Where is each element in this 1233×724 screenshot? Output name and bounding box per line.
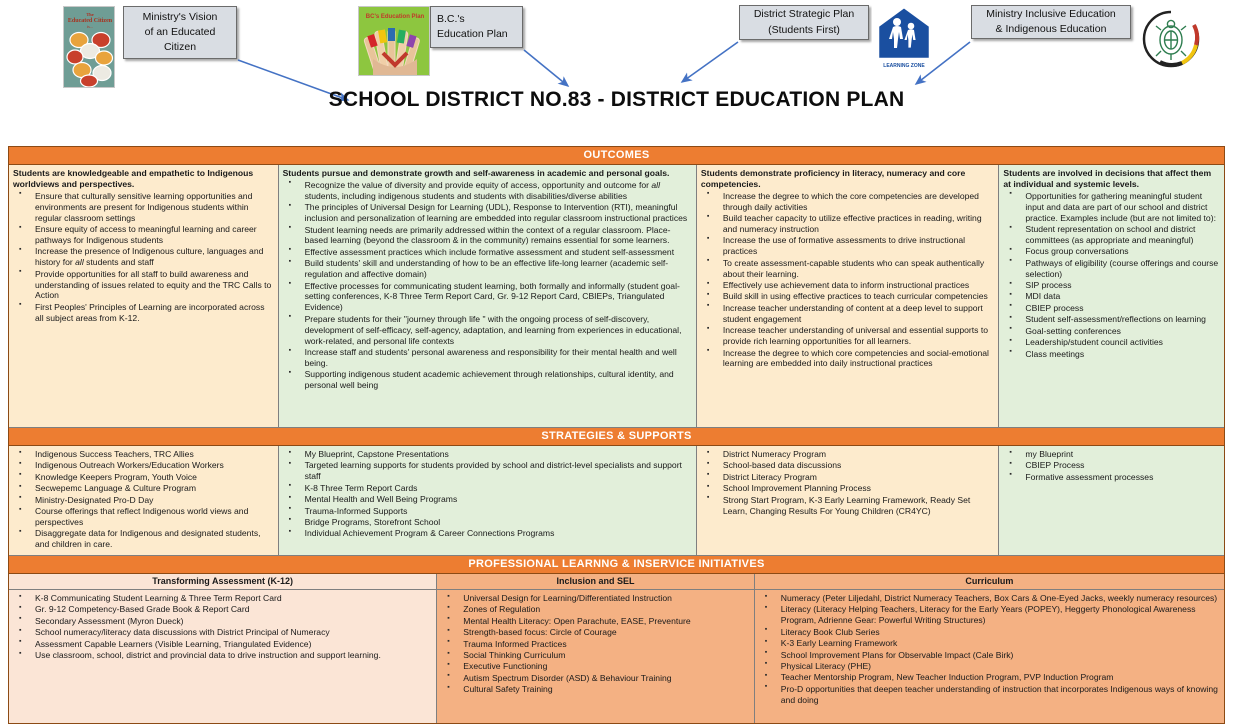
outcomes-col4-list: Opportunities for gathering meaningful s… — [1003, 191, 1220, 360]
list-item: Increase the degree to which the core co… — [701, 191, 995, 213]
svg-text:The: The — [86, 12, 93, 17]
strategies-col2-list: My Blueprint, Capstone PresentationsTarg… — [283, 449, 692, 539]
list-item: Course offerings that reflect Indigenous… — [13, 506, 274, 528]
list-item: Formative assessment processes — [1003, 472, 1220, 483]
list-item: Assessment Capable Learners (Visible Lea… — [13, 639, 432, 650]
svg-text:BC's Education Plan: BC's Education Plan — [366, 14, 425, 20]
turtle-medicine-wheel-image — [1140, 8, 1202, 70]
band-strategies-supports: STRATEGIES & SUPPORTS — [9, 428, 1224, 446]
list-item: Increase teacher understanding of univer… — [701, 325, 995, 347]
callout-ministry-inclusive-education-label: Ministry Inclusive Education& Indigenous… — [976, 7, 1126, 37]
outcomes-col1-lead: Students are knowledgeable and empatheti… — [13, 168, 274, 190]
list-item: Cultural Safety Training — [441, 684, 749, 695]
list-item: Recognize the value of diversity and pro… — [283, 180, 692, 202]
list-item: Student learning needs are primarily add… — [283, 225, 692, 247]
list-item: Universal Design for Learning/Differenti… — [441, 593, 749, 604]
list-item: Social Thinking Curriculum — [441, 650, 749, 661]
list-item: District Literacy Program — [701, 472, 995, 483]
list-item: Indigenous Outreach Workers/Education Wo… — [13, 460, 274, 471]
callout-district-strategic-plan-label: District Strategic Plan(Students First) — [744, 7, 864, 37]
svg-text:is...: is... — [87, 24, 93, 29]
band-outcomes: OUTCOMES — [9, 147, 1224, 165]
professional-subhead-row: Transforming Assessment (K-12) Inclusion… — [9, 574, 1224, 590]
outcomes-col2-lead: Students pursue and demonstrate growth a… — [283, 168, 692, 179]
list-item: Build students' skill and understanding … — [283, 258, 692, 280]
list-item: Disaggregate data for Indigenous and des… — [13, 528, 274, 550]
list-item: Secwepemc Language & Culture Program — [13, 483, 274, 494]
list-item: To create assessment-capable students wh… — [701, 258, 995, 280]
list-item: School Improvement Plans for Observable … — [759, 650, 1220, 661]
list-item: Bridge Programs, Storefront School — [283, 517, 692, 528]
list-item: Strong Start Program, K-3 Early Learning… — [701, 495, 995, 517]
subhead-inclusion-sel: Inclusion and SEL — [437, 574, 754, 590]
professional-col3-list: Numeracy (Peter Liljedahl, District Nume… — [759, 593, 1220, 706]
professional-col-assessment: K-8 Communicating Student Learning & Thr… — [9, 590, 437, 723]
list-item: Effective assessment practices which inc… — [283, 247, 692, 258]
list-item: Increase staff and students' personal aw… — [283, 347, 692, 369]
list-item: CBIEP process — [1003, 303, 1220, 314]
list-item: K-3 Early Learning Framework — [759, 638, 1220, 649]
list-item: SIP process — [1003, 280, 1220, 291]
outcomes-col3-list: Increase the degree to which the core co… — [701, 191, 995, 370]
list-item: Pro-D opportunities that deepen teacher … — [759, 684, 1220, 706]
list-item: Leadership/student council activities — [1003, 337, 1220, 348]
strategies-row: Indigenous Success Teachers, TRC AlliesI… — [9, 446, 1224, 556]
svg-text:LEARNING ZONE: LEARNING ZONE — [883, 63, 925, 69]
list-item: Increase teacher understanding of conten… — [701, 303, 995, 325]
list-item: Focus group conversations — [1003, 246, 1220, 257]
list-item: Increase the use of formative assessment… — [701, 235, 995, 257]
list-item: Prepare students for their "journey thro… — [283, 314, 692, 347]
bc-education-plan-hands-image: BC's Education Plan — [358, 6, 430, 76]
list-item: Trauma-Informed Supports — [283, 506, 692, 517]
list-item: Literacy (Literacy Helping Teachers, Lit… — [759, 604, 1220, 626]
list-item: Ensure equity of access to meaningful le… — [13, 224, 274, 246]
list-item: School-based data discussions — [701, 460, 995, 471]
list-item: Strength-based focus: Circle of Courage — [441, 627, 749, 638]
strategies-col-growth: My Blueprint, Capstone PresentationsTarg… — [279, 446, 697, 555]
band-professional-learning: PROFESSIONAL LEARNNG & INSERVICE INITIAT… — [9, 556, 1224, 574]
list-item: First Peoples' Principles of Learning ar… — [13, 302, 274, 324]
outcomes-col3-lead: Students demonstrate proficiency in lite… — [701, 168, 995, 190]
strategies-col3-list: District Numeracy ProgramSchool-based da… — [701, 449, 995, 516]
list-item: K-8 Three Term Report Cards — [283, 483, 692, 494]
callout-ministry-vision[interactable]: Ministry's Visionof an EducatedCitizen — [123, 6, 237, 59]
list-item: MDI data — [1003, 291, 1220, 302]
list-item: Effective processes for communicating st… — [283, 281, 692, 314]
list-item: Pathways of eligibility (course offering… — [1003, 258, 1220, 280]
educated-citizen-cover-image: The Educated Citizen is... — [63, 6, 115, 88]
list-item: Provide opportunities for all staff to b… — [13, 269, 274, 302]
list-item: Numeracy (Peter Liljedahl, District Nume… — [759, 593, 1220, 604]
callout-ministry-vision-label: Ministry's Visionof an EducatedCitizen — [128, 10, 232, 56]
outcomes-row: Students are knowledgeable and empatheti… — [9, 165, 1224, 428]
strategies-col-proficiency: District Numeracy ProgramSchool-based da… — [697, 446, 1000, 555]
list-item: Physical Literacy (PHE) — [759, 661, 1220, 672]
list-item: Use classroom, school, district and prov… — [13, 650, 432, 661]
list-item: Executive Functioning — [441, 661, 749, 672]
list-item: Secondary Assessment (Myron Dueck) — [13, 616, 432, 627]
list-item: Knowledge Keepers Program, Youth Voice — [13, 472, 274, 483]
callout-bc-education-plan-label: B.C.'sEducation Plan — [437, 12, 518, 42]
list-item: Supporting indigenous student academic a… — [283, 369, 692, 391]
list-item: School numeracy/literacy data discussion… — [13, 627, 432, 638]
list-item: Ensure that culturally sensitive learnin… — [13, 191, 274, 224]
learning-zone-sign-image: LEARNING ZONE — [872, 4, 936, 70]
professional-col-curriculum: Numeracy (Peter Liljedahl, District Nume… — [755, 590, 1224, 723]
outcomes-col-growth: Students pursue and demonstrate growth a… — [279, 165, 697, 427]
list-item: Increase the degree to which core compet… — [701, 348, 995, 370]
outcomes-col-proficiency: Students demonstrate proficiency in lite… — [697, 165, 1000, 427]
list-item: Targeted learning supports for students … — [283, 460, 692, 482]
list-item: My Blueprint, Capstone Presentations — [283, 449, 692, 460]
professional-col2-list: Universal Design for Learning/Differenti… — [441, 593, 749, 695]
list-item: The principles of Universal Design for L… — [283, 202, 692, 224]
callout-district-strategic-plan[interactable]: District Strategic Plan(Students First) — [739, 5, 869, 40]
list-item: Effectively use achievement data to info… — [701, 280, 995, 291]
strategies-col-indigenous: Indigenous Success Teachers, TRC AlliesI… — [9, 446, 279, 555]
list-item: School Improvement Planning Process — [701, 483, 995, 494]
outcomes-col-indigenous: Students are knowledgeable and empatheti… — [9, 165, 279, 427]
outcomes-col2-list: Recognize the value of diversity and pro… — [283, 180, 692, 391]
list-item: Autism Spectrum Disorder (ASD) & Behavio… — [441, 673, 749, 684]
list-item: Student representation on school and dis… — [1003, 224, 1220, 246]
subhead-transforming-assessment: Transforming Assessment (K-12) — [9, 574, 437, 590]
list-item: Student self-assessment/reflections on l… — [1003, 314, 1220, 325]
list-item: Build teacher capacity to utilize effect… — [701, 213, 995, 235]
list-item: Zones of Regulation — [441, 604, 749, 615]
list-item: Class meetings — [1003, 349, 1220, 360]
professional-col1-list: K-8 Communicating Student Learning & Thr… — [13, 593, 432, 661]
list-item: District Numeracy Program — [701, 449, 995, 460]
strategies-col-student-voice: my BlueprintCBIEP ProcessFormative asses… — [999, 446, 1224, 555]
list-item: K-8 Communicating Student Learning & Thr… — [13, 593, 432, 604]
list-item: Mental Health and Well Being Programs — [283, 494, 692, 505]
list-item: Gr. 9-12 Competency-Based Grade Book & R… — [13, 604, 432, 615]
list-item: Opportunities for gathering meaningful s… — [1003, 191, 1220, 224]
page-title: SCHOOL DISTRICT NO.83 - DISTRICT EDUCATI… — [0, 88, 1233, 112]
outcomes-col-student-voice: Students are involved in decisions that … — [999, 165, 1224, 427]
header-diagram: The Educated Citizen is... Ministry's Vi… — [0, 0, 1233, 140]
callout-bc-education-plan[interactable]: B.C.'sEducation Plan — [430, 6, 523, 48]
professional-col-inclusion: Universal Design for Learning/Differenti… — [437, 590, 754, 723]
subhead-curriculum: Curriculum — [755, 574, 1224, 590]
list-item: Ministry-Designated Pro-D Day — [13, 495, 274, 506]
list-item: Goal-setting conferences — [1003, 326, 1220, 337]
list-item: Mental Health Literacy: Open Parachute, … — [441, 616, 749, 627]
list-item: Trauma Informed Practices — [441, 639, 749, 650]
strategies-col4-list: my BlueprintCBIEP ProcessFormative asses… — [1003, 449, 1220, 483]
list-item: Individual Achievement Program & Career … — [283, 528, 692, 539]
outcomes-col1-list: Ensure that culturally sensitive learnin… — [13, 191, 274, 324]
outcomes-col4-lead: Students are involved in decisions that … — [1003, 168, 1220, 190]
list-item: Increase the presence of Indigenous cult… — [13, 246, 274, 268]
list-item: Literacy Book Club Series — [759, 627, 1220, 638]
list-item: Build skill in using effective practices… — [701, 291, 995, 302]
professional-content-row: K-8 Communicating Student Learning & Thr… — [9, 590, 1224, 723]
list-item: Teacher Mentorship Program, New Teacher … — [759, 672, 1220, 683]
district-education-plan-table: OUTCOMES Students are knowledgeable and … — [8, 146, 1225, 724]
list-item: CBIEP Process — [1003, 460, 1220, 471]
callout-ministry-inclusive-education[interactable]: Ministry Inclusive Education& Indigenous… — [971, 5, 1131, 39]
list-item: my Blueprint — [1003, 449, 1220, 460]
strategies-col1-list: Indigenous Success Teachers, TRC AlliesI… — [13, 449, 274, 550]
list-item: Indigenous Success Teachers, TRC Allies — [13, 449, 274, 460]
